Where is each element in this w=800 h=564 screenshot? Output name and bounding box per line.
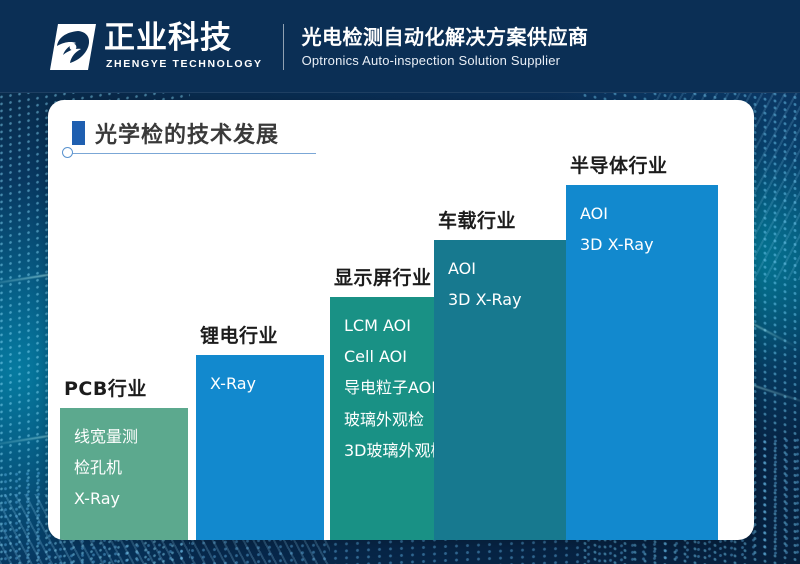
bar-item: X-Ray (210, 368, 324, 399)
bar-item: X-Ray (74, 483, 188, 514)
bar-item: 3D X-Ray (580, 229, 718, 260)
header-tagline: 光电检测自动化解决方案供应商 Optronics Auto-inspection… (302, 25, 589, 68)
zhengye-swirl-logo-icon (48, 22, 98, 72)
brand-name-cn: 正业科技 (104, 23, 263, 54)
bar-rect-2[interactable]: X-Ray (196, 355, 324, 540)
bar-group-1[interactable]: PCB行业线宽量测检孔机X-Ray (60, 408, 188, 540)
brand-logo: 正业科技 ZHENGYE TECHNOLOGY (48, 22, 263, 72)
bar-label-5: 半导体行业 (570, 151, 668, 178)
bar-label-3: 显示屏行业 (334, 263, 432, 290)
tagline-en: Optronics Auto-inspection Solution Suppl… (302, 53, 589, 68)
bar-group-4[interactable]: 车载行业AOI3D X-Ray (434, 240, 586, 540)
industry-bar-chart: PCB行业线宽量测检孔机X-Ray锂电行业X-Ray显示屏行业LCM AOICe… (48, 100, 754, 540)
bar-label-2: 锂电行业 (200, 321, 278, 348)
bar-item: 检孔机 (74, 452, 188, 483)
bar-rect-1[interactable]: 线宽量测检孔机X-Ray (60, 408, 188, 540)
bar-rect-4[interactable]: AOI3D X-Ray (434, 240, 586, 540)
page-header: 正业科技 ZHENGYE TECHNOLOGY 光电检测自动化解决方案供应商 O… (0, 0, 800, 93)
tagline-cn: 光电检测自动化解决方案供应商 (302, 25, 589, 50)
bar-label-4: 车载行业 (438, 206, 516, 233)
brand-text: 正业科技 ZHENGYE TECHNOLOGY (98, 23, 263, 70)
bar-item: 线宽量测 (74, 421, 188, 452)
bar-item: AOI (580, 198, 718, 229)
bar-label-1: PCB行业 (64, 374, 147, 401)
bar-group-5[interactable]: 半导体行业AOI3D X-Ray (566, 185, 718, 540)
bar-rect-5[interactable]: AOI3D X-Ray (566, 185, 718, 540)
content-card: 光学检的技术发展 PCB行业线宽量测检孔机X-Ray锂电行业X-Ray显示屏行业… (48, 100, 754, 540)
brand-name-en: ZHENGYE TECHNOLOGY (106, 58, 263, 70)
bar-group-2[interactable]: 锂电行业X-Ray (196, 355, 324, 540)
header-divider (283, 24, 284, 70)
